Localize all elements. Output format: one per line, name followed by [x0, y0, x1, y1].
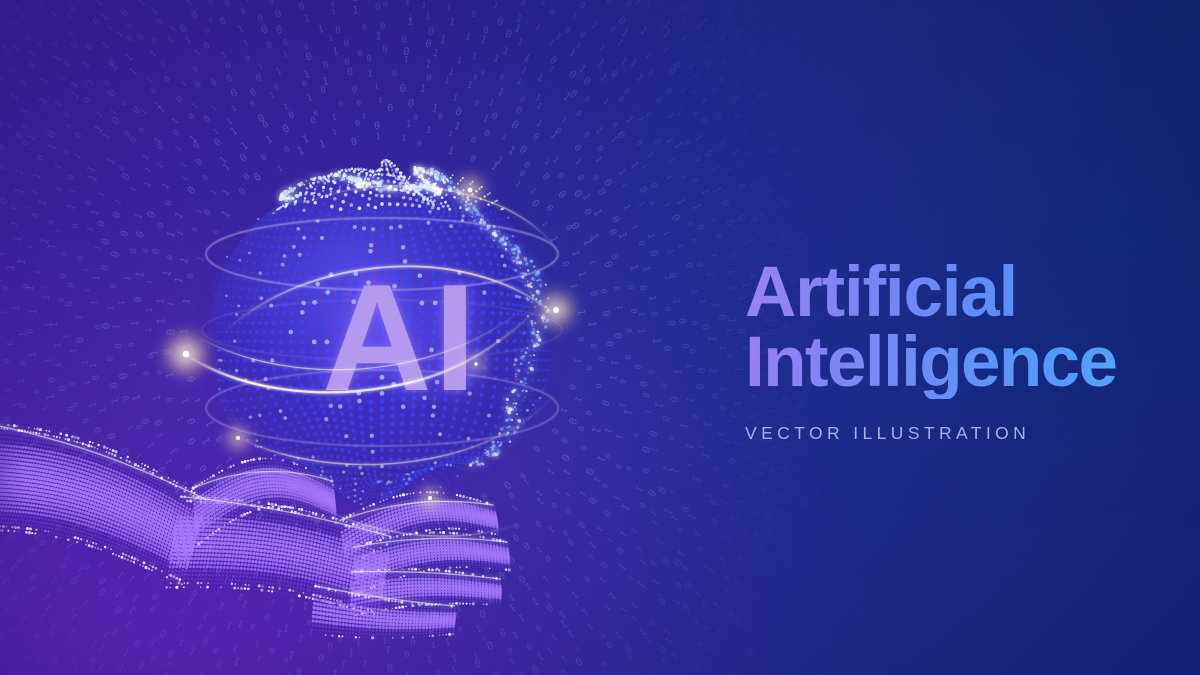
hand-particles — [0, 424, 564, 654]
subtitle: VECTOR ILLUSTRATION — [745, 423, 1175, 444]
headline-line-1: Artificial — [745, 258, 1175, 328]
illustration-canvas: 0101000000101000011101100110101001110110… — [0, 0, 1200, 675]
ai-wordmark: AI — [300, 258, 500, 418]
particle-hand — [0, 424, 564, 654]
headline-line-2: Intelligence — [745, 328, 1175, 398]
text-block: Artificial Intelligence VECTOR ILLUSTRAT… — [745, 258, 1175, 444]
